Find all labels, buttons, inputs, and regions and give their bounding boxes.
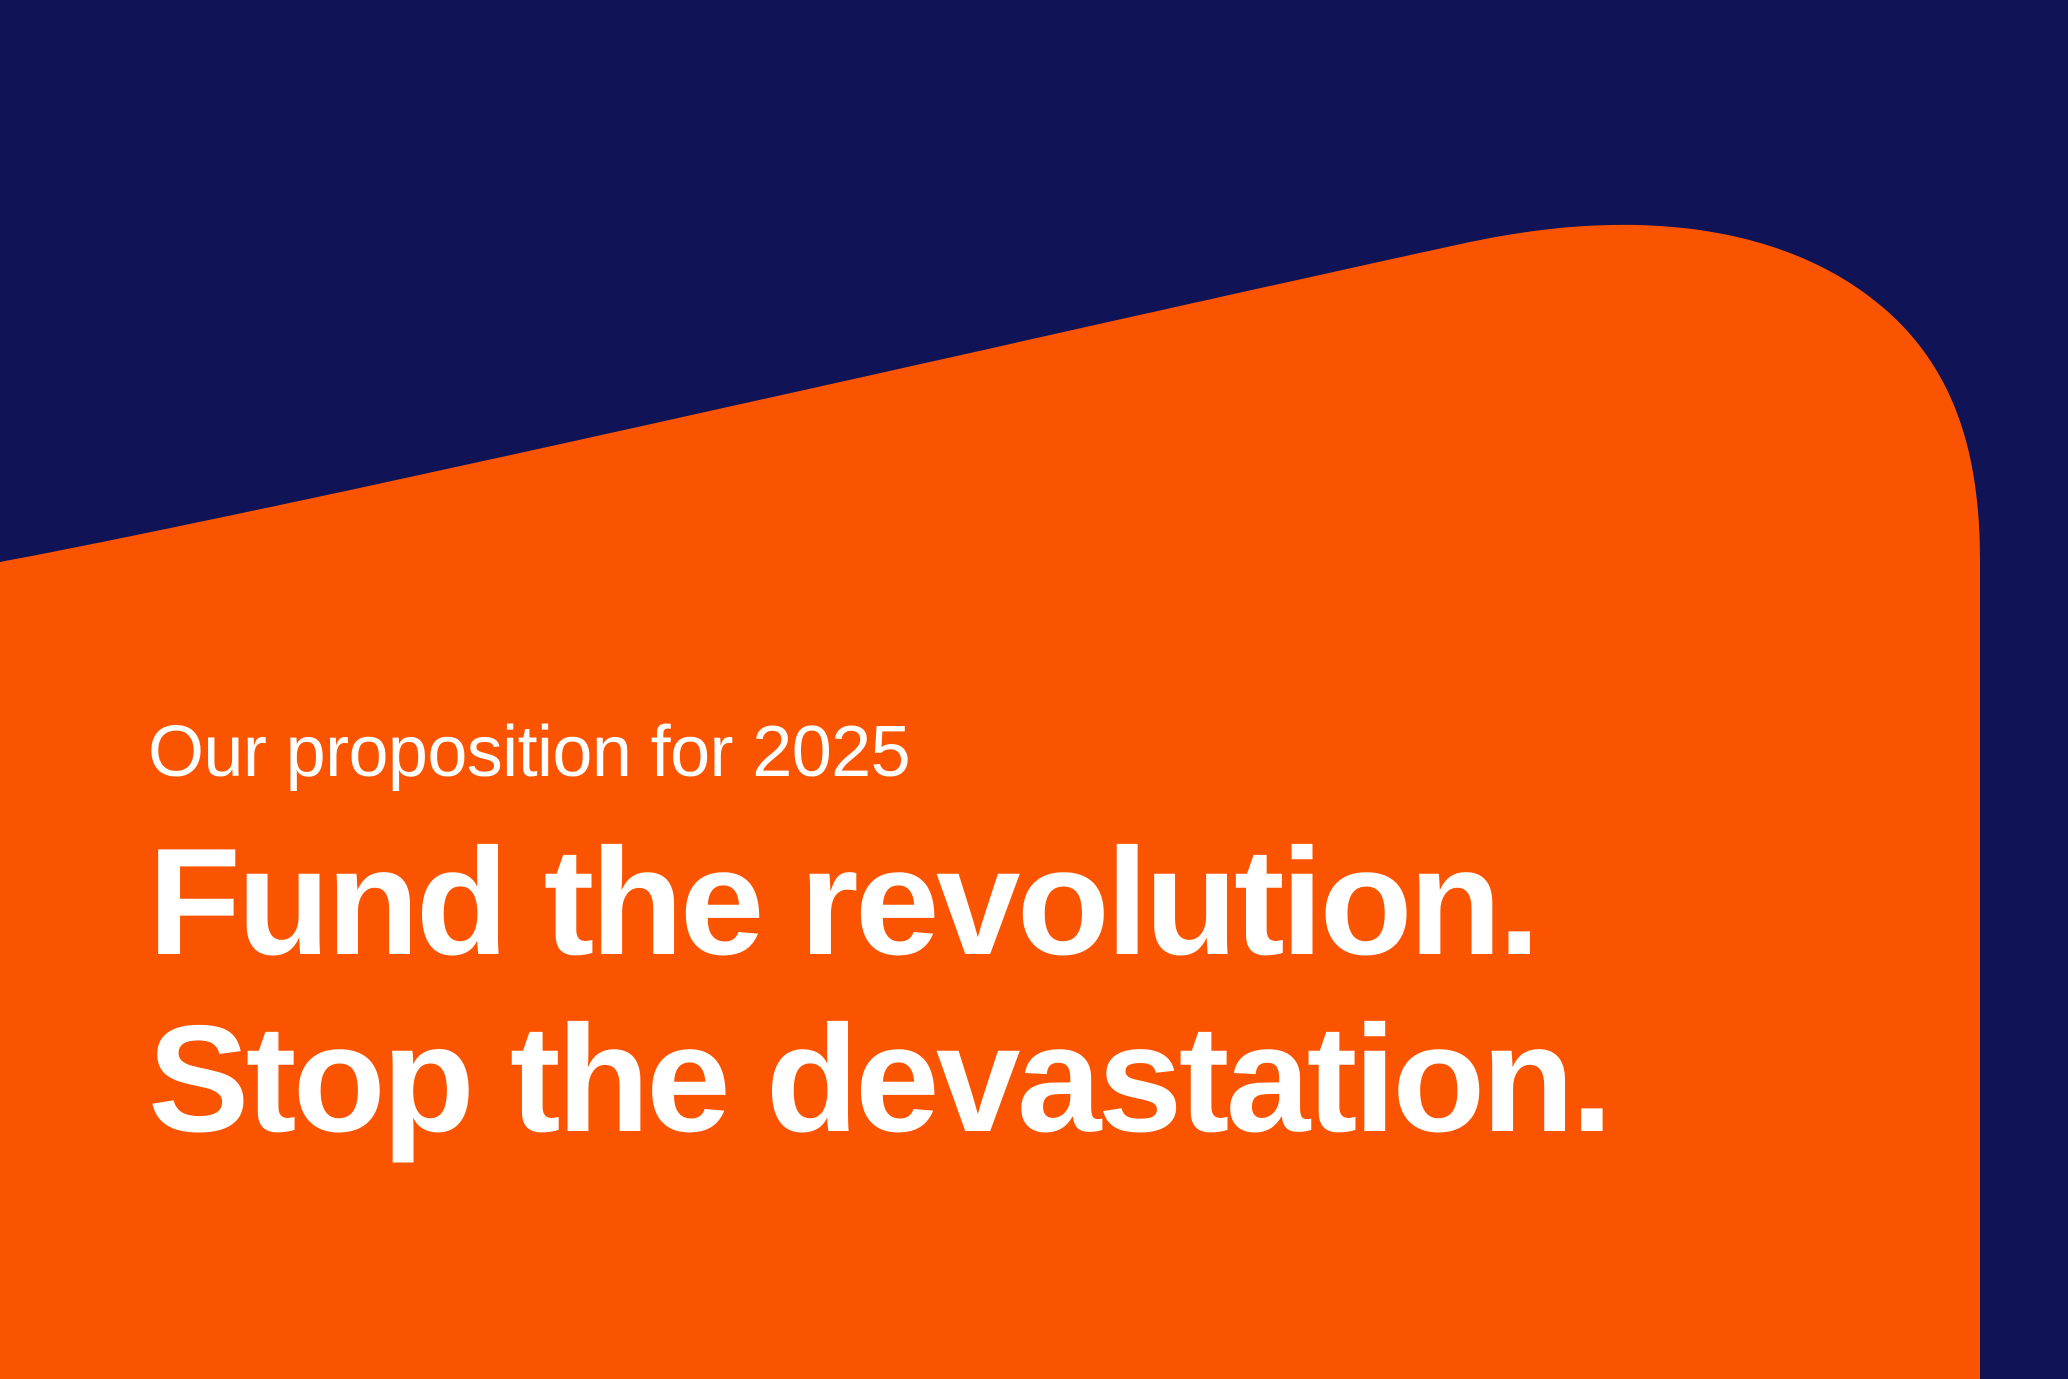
poster-canvas: Our proposition for 2025 Fund the revolu… [0,0,2068,1379]
navy-background [0,0,2068,1379]
headline-line-1: Fund the revolution. [148,814,1948,991]
hero-copy-block: Our proposition for 2025 Fund the revolu… [148,716,1948,1168]
hero-headline: Fund the revolution. Stop the devastatio… [148,814,1948,1168]
headline-line-2: Stop the devastation. [148,991,1948,1168]
hero-eyebrow: Our proposition for 2025 [148,716,1948,788]
